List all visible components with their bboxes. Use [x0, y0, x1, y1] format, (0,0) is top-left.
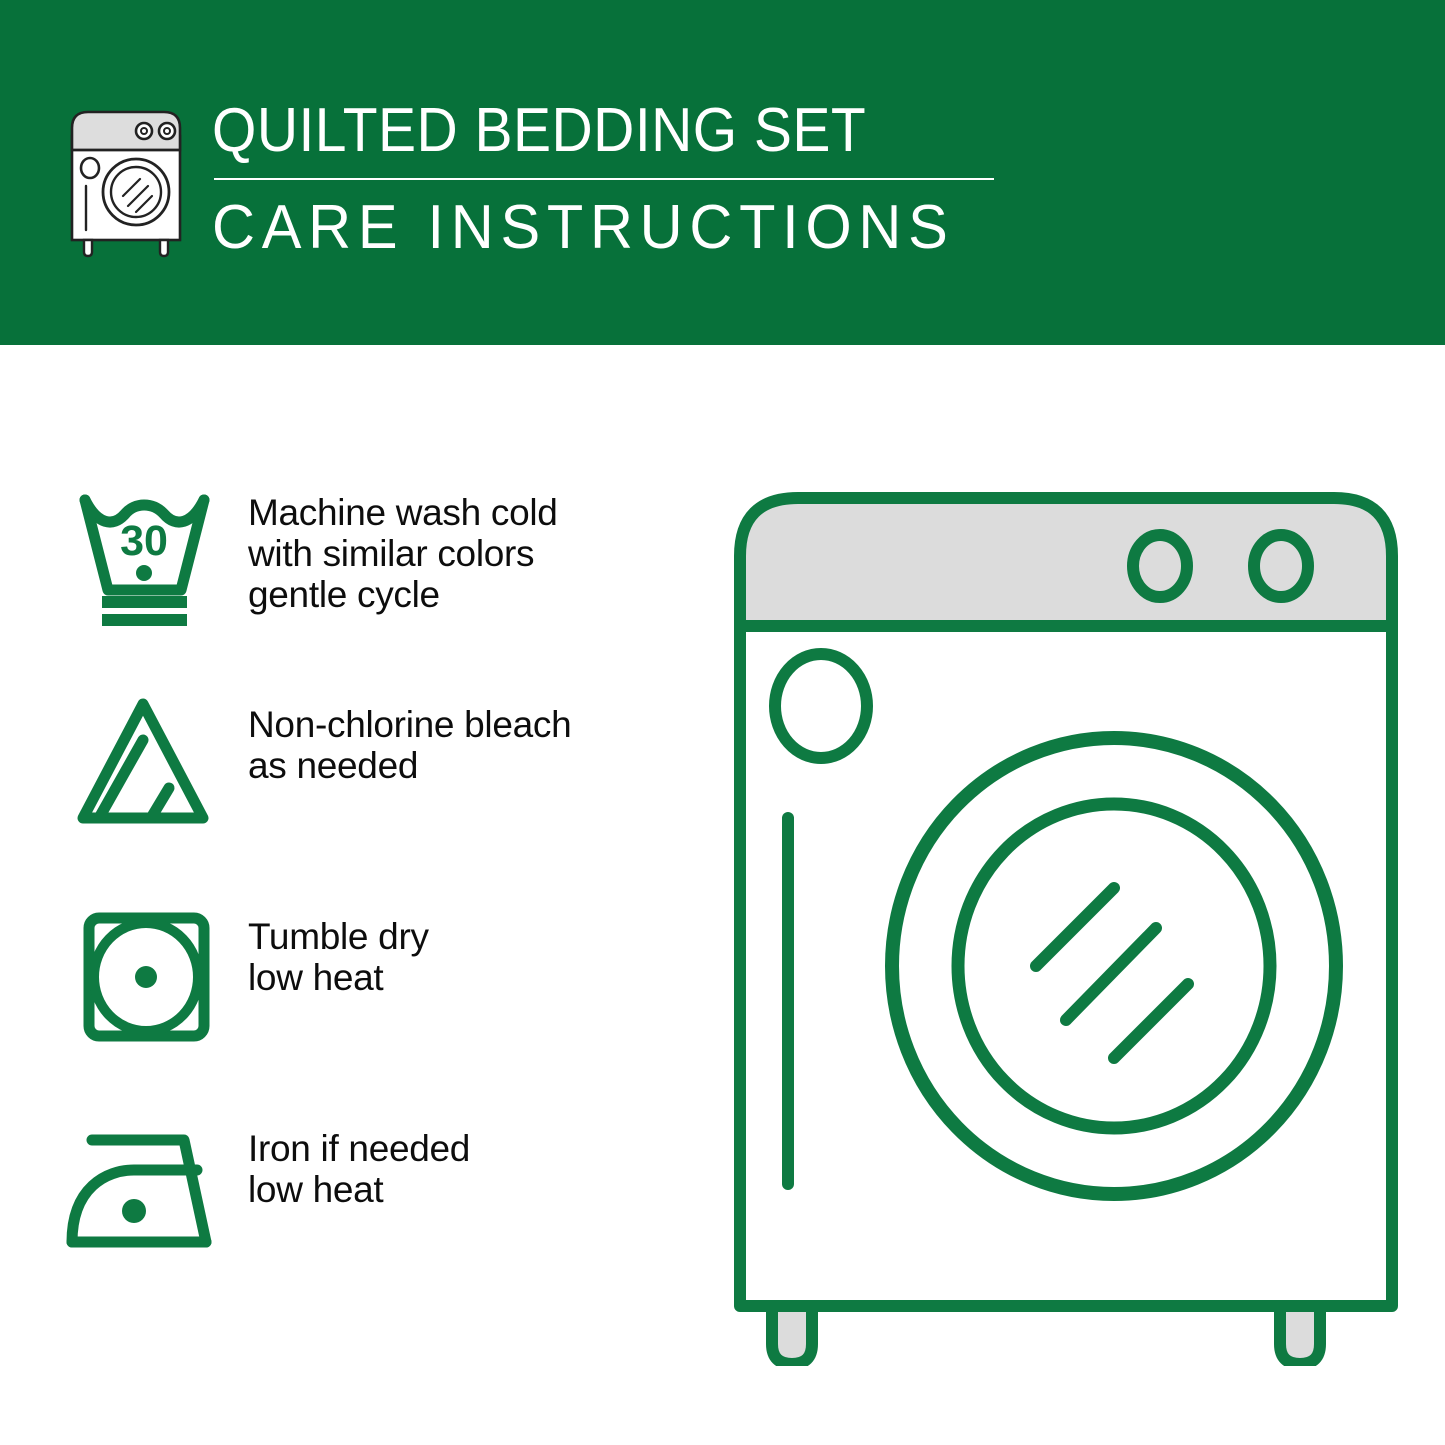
tumble-dry-low-icon — [62, 902, 230, 1052]
washing-machine-icon — [62, 102, 190, 258]
care-row-machine-wash: 30 Machine wash cold with similar colors… — [62, 478, 702, 690]
title-divider — [214, 178, 994, 180]
iron-low-heat-icon — [62, 1114, 230, 1264]
care-row-iron: Iron if needed low heat — [62, 1114, 702, 1326]
washing-machine-illustration — [716, 466, 1416, 1366]
care-row-tumble-dry: Tumble dry low heat — [62, 902, 702, 1114]
knob-left — [1133, 535, 1187, 597]
care-text-bleach: Non-chlorine bleach as needed — [248, 690, 571, 786]
care-instructions-page: QUILTED BEDDING SET CARE INSTRUCTIONS — [0, 0, 1445, 1445]
header-content: QUILTED BEDDING SET CARE INSTRUCTIONS — [62, 96, 994, 262]
non-chlorine-bleach-triangle-icon — [62, 690, 230, 840]
wash-temperature-value: 30 — [120, 517, 168, 565]
care-text-iron: Iron if needed low heat — [248, 1114, 470, 1210]
page-header: QUILTED BEDDING SET CARE INSTRUCTIONS — [0, 0, 1445, 345]
knob-right — [1254, 535, 1308, 597]
wash-basin-30-icon: 30 — [62, 478, 230, 628]
page-subtitle: CARE INSTRUCTIONS — [212, 194, 963, 262]
care-text-machine-wash: Machine wash cold with similar colors ge… — [248, 478, 558, 615]
header-title-block: QUILTED BEDDING SET CARE INSTRUCTIONS — [212, 96, 994, 262]
care-row-bleach: Non-chlorine bleach as needed — [62, 690, 702, 902]
care-instructions-list: 30 Machine wash cold with similar colors… — [62, 478, 702, 1326]
care-text-tumble-dry: Tumble dry low heat — [248, 902, 429, 998]
detergent-dispenser — [775, 654, 867, 758]
page-title: QUILTED BEDDING SET — [212, 96, 931, 166]
